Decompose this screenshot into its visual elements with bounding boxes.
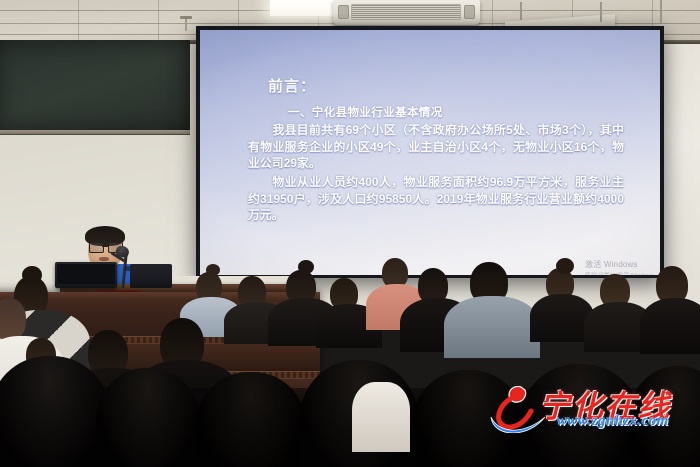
air-conditioner-unit (333, 0, 480, 25)
conference-room-photo: 前言： 一、宁化县物业行业基本情况 我县目前共有69个小区（不含政府办公场所5处… (0, 0, 700, 467)
wall-blackboard (0, 40, 190, 135)
fire-sprinkler-icon (180, 16, 192, 19)
silhouette (520, 364, 640, 467)
silhouette (196, 372, 306, 467)
sprinkler-stem (185, 18, 187, 31)
silhouette (0, 356, 110, 467)
slide-heading: 前言： (268, 75, 316, 96)
slide-content: 前言： 一、宁化县物业行业基本情况 我县目前共有69个小区（不含政府办公场所5处… (200, 30, 660, 275)
slide-paragraph-1-text: 我县目前共有69个小区（不含政府办公场所5处、市场3个），其中有物业服务企业的小… (248, 123, 624, 170)
silhouette (96, 368, 200, 467)
ceiling-light-panel (270, 0, 336, 16)
slide-paragraph-2: 物业从业人员约400人，物业服务面积约96.9万平方米，服务业主约31950户，… (248, 174, 624, 224)
slide-paragraph-1: 我县目前共有69个小区（不含政府办公场所5处、市场3个），其中有物业服务企业的小… (248, 122, 624, 172)
projection-screen: 前言： 一、宁化县物业行业基本情况 我县目前共有69个小区（不含政府办公场所5处… (200, 30, 660, 275)
slide-subheading: 一、宁化县物业行业基本情况 (288, 104, 443, 120)
slide-paragraph-2-text: 物业从业人员约400人，物业服务面积约96.9万平方米，服务业主约31950户，… (248, 175, 624, 222)
audience-member-white-shirt (352, 382, 410, 452)
blackboard-tray (0, 130, 190, 134)
ac-grill (351, 4, 461, 20)
silhouette (412, 370, 524, 467)
